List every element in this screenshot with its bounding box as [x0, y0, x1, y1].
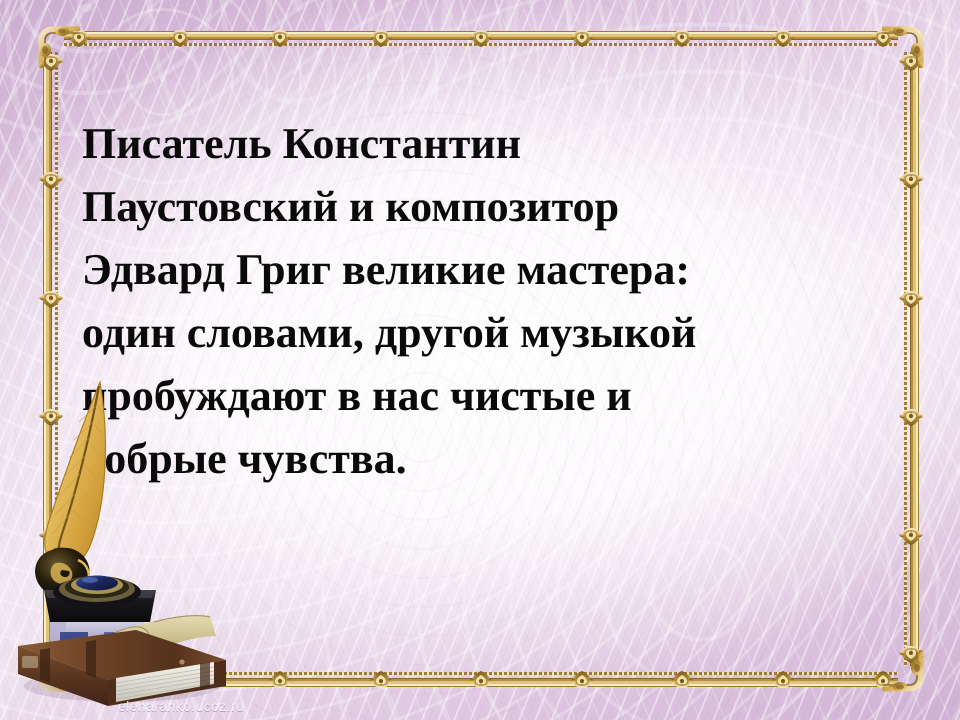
frame-medallion-icon	[265, 28, 295, 50]
frame-medallion-icon	[466, 668, 496, 690]
frame-medallions-top	[64, 26, 898, 52]
frame-medallion-icon	[366, 668, 396, 690]
frame-medallion-icon	[768, 668, 798, 690]
frame-medallion-icon	[36, 52, 66, 74]
frame-medallion-icon	[567, 668, 597, 690]
quote-line-2: Паустовский и композитор	[82, 175, 872, 238]
quill-feather-icon	[45, 382, 106, 567]
frame-medallion-icon	[768, 28, 798, 50]
frame-medallion-icon	[896, 170, 926, 192]
frame-medallion-icon	[896, 407, 926, 429]
frame-rail-top	[64, 26, 898, 52]
frame-medallion-icon	[868, 28, 898, 50]
frame-medallion-icon	[896, 289, 926, 311]
quote-line-3: Эдвард Григ великие мастера:	[82, 238, 872, 301]
frame-medallion-icon	[667, 668, 697, 690]
frame-rail-right	[898, 52, 924, 666]
frame-medallion-icon	[165, 28, 195, 50]
frame-medallion-icon	[466, 28, 496, 50]
quote-line-4: один словами, другой музыкой	[82, 301, 872, 364]
frame-medallion-icon	[567, 28, 597, 50]
frame-medallion-icon	[896, 52, 926, 74]
frame-medallions-right	[898, 52, 924, 666]
quote-line-1: Писатель Константин	[82, 112, 872, 175]
watermark-text: elenaranko.ucoz.ru	[118, 698, 244, 714]
frame-medallion-icon	[868, 668, 898, 690]
frame-medallion-icon	[36, 170, 66, 192]
frame-medallion-icon	[64, 28, 94, 50]
slide-canvas: Писатель КонстантинПаустовский и компози…	[0, 0, 960, 720]
frame-medallion-icon	[36, 289, 66, 311]
quill-inkwell-books-illustration	[4, 374, 230, 714]
frame-medallion-icon	[896, 526, 926, 548]
frame-corner-top-right-icon	[882, 22, 928, 68]
frame-medallion-icon	[366, 28, 396, 50]
frame-corner-top-left-icon	[34, 22, 80, 68]
frame-corner-bottom-right-icon	[882, 650, 928, 696]
frame-medallion-icon	[896, 644, 926, 666]
frame-medallion-icon	[265, 668, 295, 690]
frame-medallion-icon	[667, 28, 697, 50]
